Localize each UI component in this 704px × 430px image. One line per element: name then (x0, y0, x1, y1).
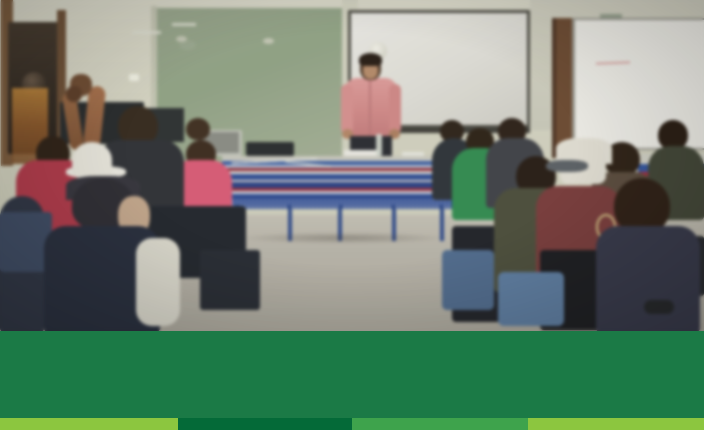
meeting-photo (0, 0, 704, 331)
segment-medium-green (352, 418, 528, 430)
campaign-banner-card: Reuniones parroquiales para Presupuesto … (0, 0, 704, 430)
green-banner: Reuniones parroquiales para Presupuesto … (0, 331, 704, 418)
segment-light-green (0, 418, 178, 430)
bottom-color-stripe (0, 418, 704, 430)
segment-dark-green (178, 418, 352, 430)
segment-light-green-2 (528, 418, 704, 430)
photo-vignette (0, 0, 704, 331)
